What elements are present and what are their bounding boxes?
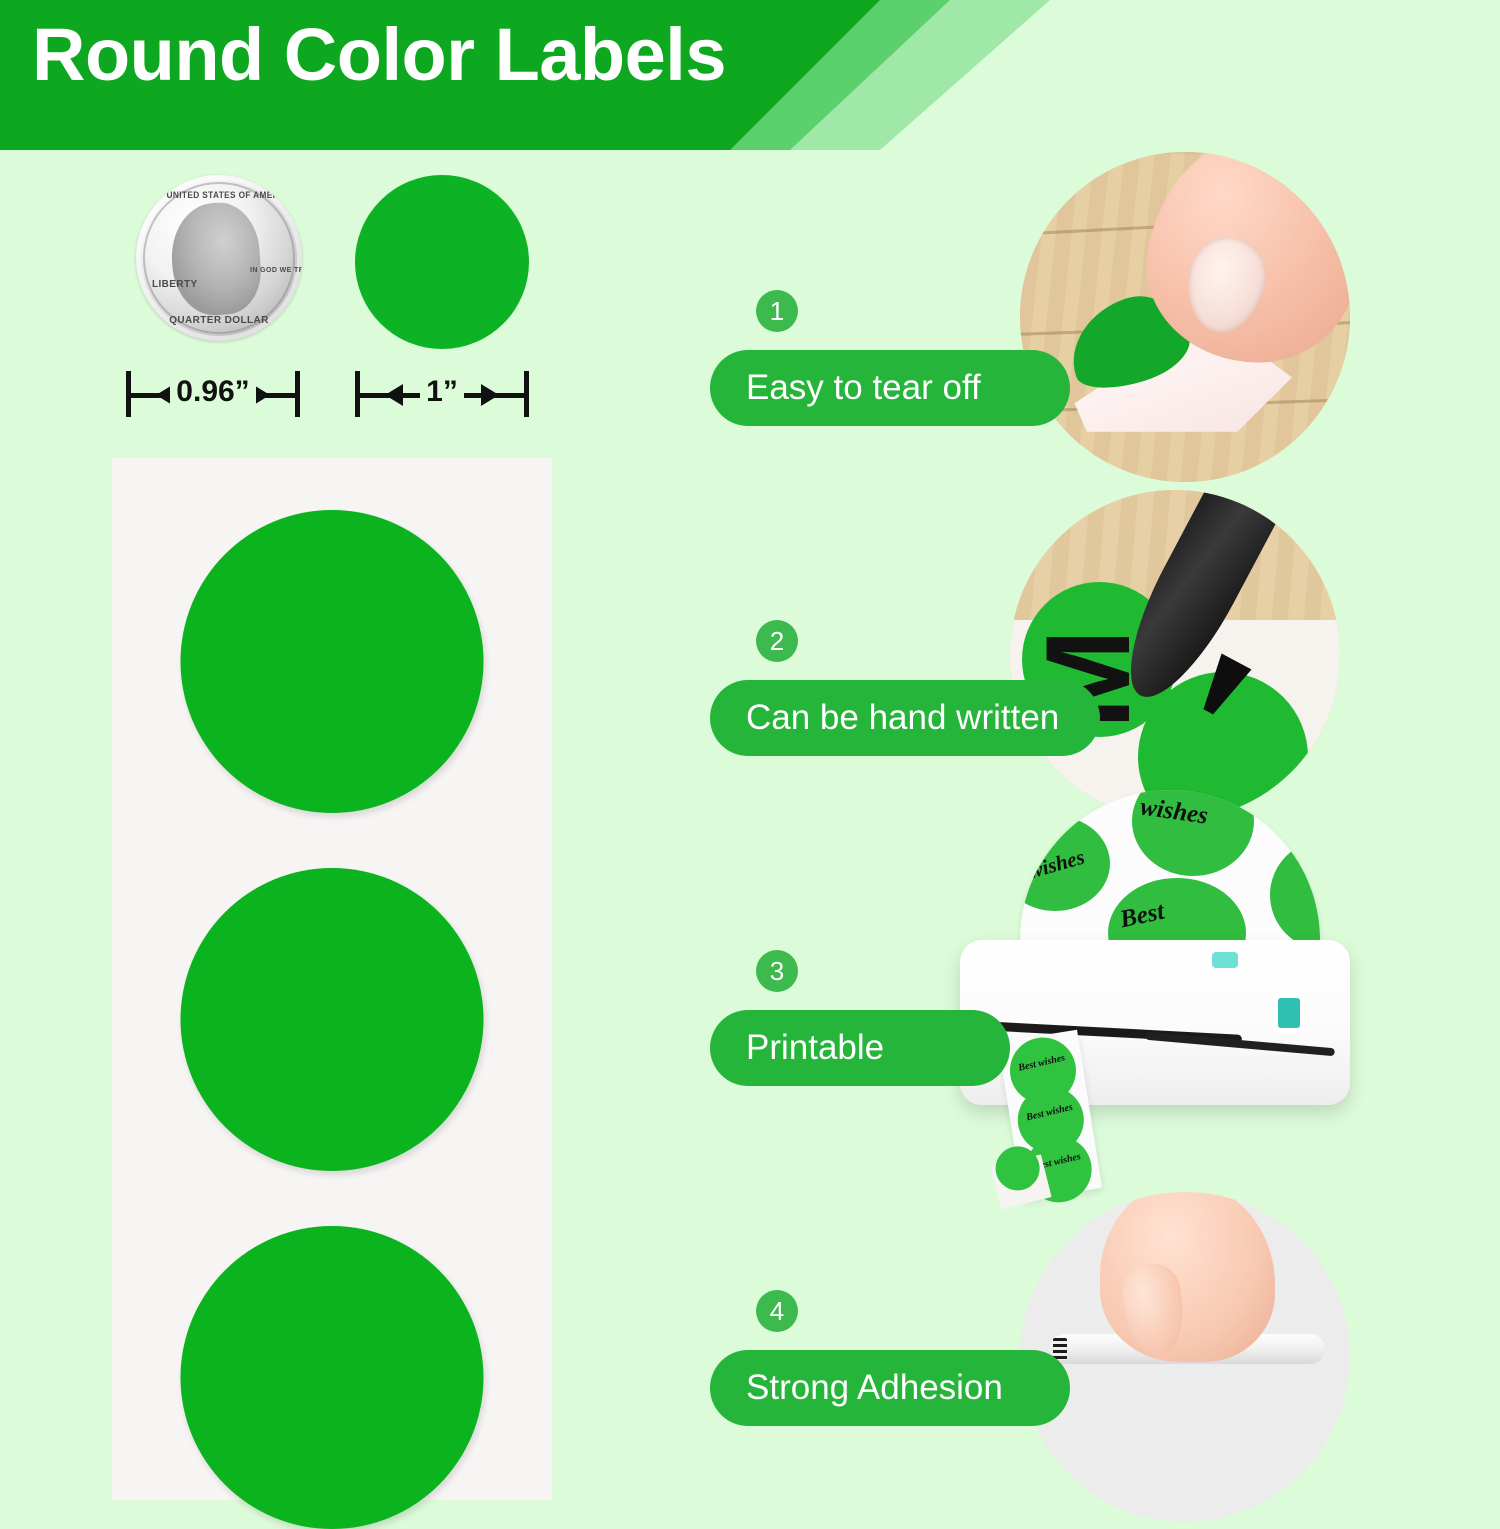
- feature-number-badge: 4: [756, 1290, 798, 1332]
- coin-dimension-label: 0.96”: [170, 375, 255, 408]
- coin-country-text: UNITED STATES OF AMERICA: [167, 190, 272, 200]
- rod-end-cap: [1053, 1338, 1067, 1360]
- printer-led-indicator: [1212, 952, 1238, 968]
- feature-number-badge: 3: [756, 950, 798, 992]
- stray-label-sticker: [990, 1154, 1051, 1209]
- coin-liberty-text: LIBERTY: [152, 279, 198, 290]
- coin-trust-text: IN GOD WE TRUST: [250, 267, 302, 275]
- page-title: Round Color Labels: [32, 16, 726, 94]
- feature-label-1: Easy to tear off: [746, 368, 981, 408]
- label-sticker: [181, 1226, 484, 1529]
- label-dimension-label: 1”: [420, 375, 464, 408]
- feature-number-badge: 2: [756, 620, 798, 662]
- label-sticker: [181, 510, 484, 813]
- feature-photo-hand-written: M: [1010, 490, 1340, 820]
- feature-pill-3[interactable]: Printable: [710, 1010, 1010, 1086]
- coin-portrait: [168, 200, 264, 318]
- size-comparison-group: UNITED STATES OF AMERICA LIBERTY IN GOD …: [0, 150, 660, 450]
- feature-photo-printable: wishes wishes Best Best wishes Best wish…: [950, 790, 1410, 1190]
- feature-photo-tear-off: [1020, 152, 1350, 482]
- label-roll-strip: [112, 458, 552, 1500]
- label-sample-circle: [355, 175, 529, 349]
- feature-number-badge: 1: [756, 290, 798, 332]
- feature-label-4: Strong Adhesion: [746, 1368, 1003, 1408]
- feature-photo-adhesion: [1020, 1192, 1350, 1522]
- label-sticker: [181, 868, 484, 1171]
- coin-denomination-text: QUARTER DOLLAR: [160, 315, 278, 326]
- roll-label-dot: [1270, 840, 1320, 950]
- header-banner: Round Color Labels: [0, 0, 1500, 150]
- printer-port: [1278, 998, 1300, 1028]
- feature-label-2: Can be hand written: [746, 698, 1059, 738]
- label-dimension-ruler: 1”: [355, 365, 529, 421]
- feature-pill-1[interactable]: Easy to tear off: [710, 350, 1070, 426]
- feature-label-3: Printable: [746, 1028, 884, 1068]
- feature-pill-2[interactable]: Can be hand written: [710, 680, 1100, 756]
- feature-pill-4[interactable]: Strong Adhesion: [710, 1350, 1070, 1426]
- coin-dimension-ruler: 0.96”: [126, 365, 300, 421]
- quarter-coin-image: UNITED STATES OF AMERICA LIBERTY IN GOD …: [136, 175, 302, 341]
